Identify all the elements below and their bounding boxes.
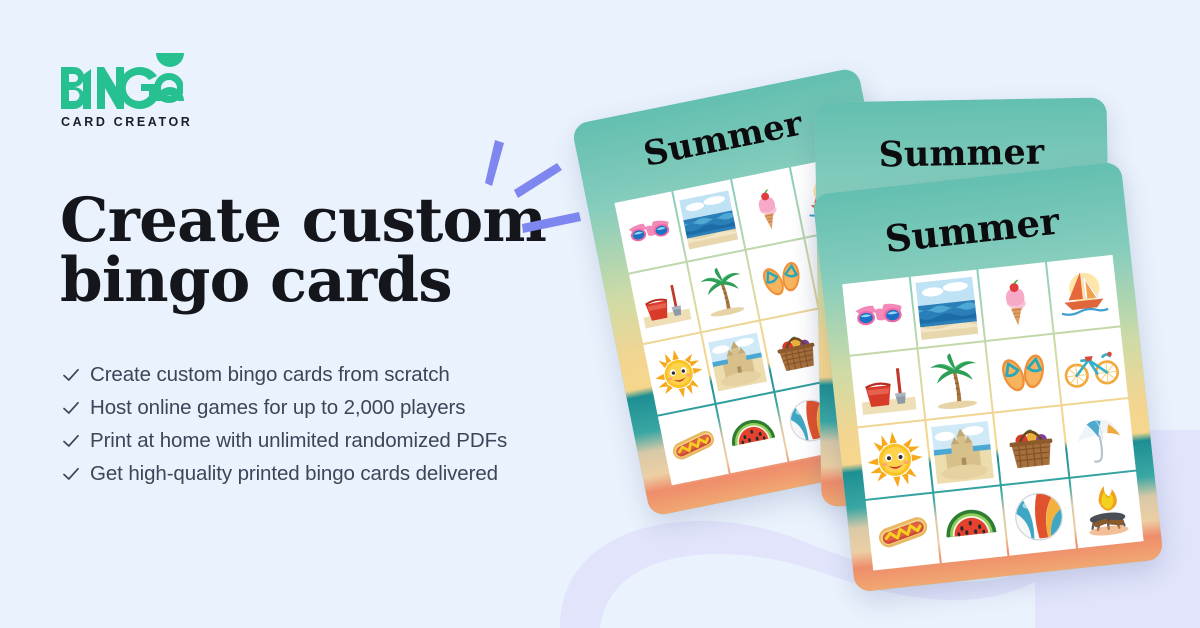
feature-list: Create custom bingo cards from scratch H…	[62, 360, 507, 492]
logo-o-decoration-icon	[153, 51, 187, 103]
hero-left-column: CARD CREATOR Create custom bingo cards C…	[0, 0, 620, 628]
feature-text: Print at home with unlimited randomized …	[90, 429, 507, 453]
bingo-cell-palm-tree[interactable]	[918, 342, 992, 419]
bingo-cell-hot-dog[interactable]	[866, 493, 940, 570]
bingo-cell-flip-flops[interactable]	[747, 239, 818, 320]
bingo-cell-sunglasses[interactable]	[614, 191, 685, 272]
bingo-cell-ocean-beach[interactable]	[673, 180, 744, 261]
bingo-cell-watermelon[interactable]	[717, 393, 788, 474]
bingo-cell-sun[interactable]	[858, 421, 932, 498]
check-icon	[62, 465, 80, 483]
sparkle-lines-icon	[481, 136, 591, 261]
list-item: Get high-quality printed bingo cards del…	[62, 459, 507, 489]
bingo-cell-palm-tree[interactable]	[688, 251, 759, 332]
bingo-cell-sun[interactable]	[643, 334, 714, 415]
check-icon	[62, 432, 80, 450]
feature-text: Host online games for up to 2,000 player…	[90, 396, 465, 420]
bingo-cell-picnic-basket[interactable]	[994, 406, 1068, 483]
bingo-cell-sunglasses[interactable]	[842, 277, 916, 354]
bingo-cell-bicycle[interactable]	[1054, 327, 1128, 404]
bingo-cell-beach-ball[interactable]	[1002, 478, 1076, 555]
bingo-cell-ice-cream-cone[interactable]	[978, 262, 1052, 339]
site-logo[interactable]: CARD CREATOR	[59, 57, 192, 129]
bingo-cell-sailboat[interactable]	[1046, 255, 1120, 332]
bingo-cell-watermelon[interactable]	[934, 486, 1008, 563]
bingo-grid	[842, 255, 1144, 571]
bingo-cell-ocean-beach[interactable]	[910, 270, 984, 347]
bingo-cell-bucket-and-shovel[interactable]	[629, 263, 700, 344]
list-item: Create custom bingo cards from scratch	[62, 360, 507, 390]
logo-tagline: CARD CREATOR	[59, 115, 192, 129]
bingo-cell-beach-umbrella[interactable]	[1062, 399, 1136, 476]
bingo-cell-hot-dog[interactable]	[658, 405, 729, 486]
bingo-cell-campfire-grill[interactable]	[1070, 471, 1144, 548]
bingo-cell-sandcastle[interactable]	[702, 322, 773, 403]
list-item: Print at home with unlimited randomized …	[62, 426, 507, 456]
feature-text: Create custom bingo cards from scratch	[90, 363, 450, 387]
bingo-cell-ice-cream-cone[interactable]	[732, 168, 803, 249]
feature-text: Get high-quality printed bingo cards del…	[90, 462, 498, 486]
bingo-cell-sandcastle[interactable]	[926, 414, 1000, 491]
check-icon	[62, 366, 80, 384]
list-item: Host online games for up to 2,000 player…	[62, 393, 507, 423]
check-icon	[62, 399, 80, 417]
bingo-card-front[interactable]: Summer	[812, 161, 1163, 592]
bingo-cell-bucket-and-shovel[interactable]	[850, 349, 924, 426]
bingo-cell-flip-flops[interactable]	[986, 334, 1060, 411]
